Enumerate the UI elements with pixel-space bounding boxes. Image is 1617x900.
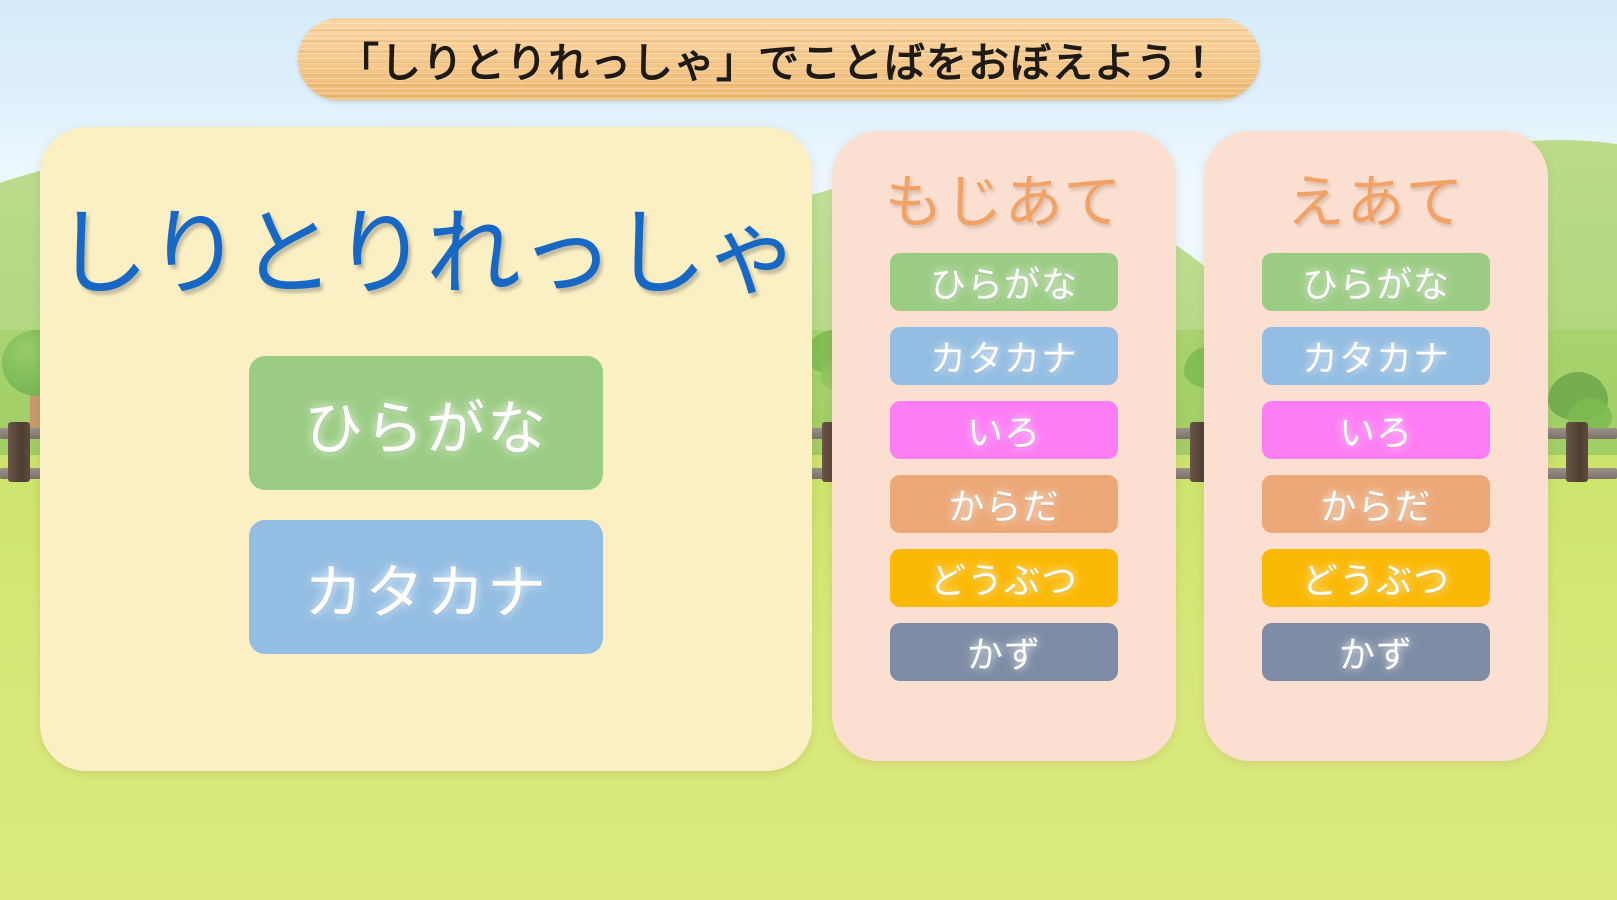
panel-title-moji-ate: もじあて [885,155,1124,239]
e-button-kazu[interactable]: かず [1262,623,1490,681]
moji-button-katakana[interactable]: カタカナ [890,327,1118,385]
panel-e-ate: えあて ひらがな カタカナ いろ からだ どうぶつ かず [1204,131,1548,761]
main-menu-card: しりとりれっしゃ ひらがな カタカナ [40,127,812,771]
moji-button-karada[interactable]: からだ [890,475,1118,533]
title-banner: 「しりとりれっしゃ」でことばをおぼえよう！ [298,18,1260,100]
moji-button-doubutsu[interactable]: どうぶつ [890,549,1118,607]
game-title: しりとりれっしゃ [54,177,798,314]
e-button-doubutsu[interactable]: どうぶつ [1262,549,1490,607]
panel-moji-button-group: ひらがな カタカナ いろ からだ どうぶつ かず [890,253,1118,681]
moji-button-kazu[interactable]: かず [890,623,1118,681]
game-scene: 「しりとりれっしゃ」でことばをおぼえよう！ しりとりれっしゃ ひらがな カタカナ… [0,0,1617,900]
panel-e-button-group: ひらがな カタカナ いろ からだ どうぶつ かず [1262,253,1490,681]
main-mode-button-group: ひらがな カタカナ [249,356,603,654]
e-button-katakana[interactable]: カタカナ [1262,327,1490,385]
main-button-katakana[interactable]: カタカナ [249,520,603,654]
panel-moji-ate: もじあて ひらがな カタカナ いろ からだ どうぶつ かず [832,131,1176,761]
main-button-hiragana[interactable]: ひらがな [249,356,603,490]
moji-button-hiragana[interactable]: ひらがな [890,253,1118,311]
e-button-iro[interactable]: いろ [1262,401,1490,459]
e-button-karada[interactable]: からだ [1262,475,1490,533]
moji-button-iro[interactable]: いろ [890,401,1118,459]
rail-tie [8,422,30,482]
banner-text: 「しりとりれっしゃ」でことばをおぼえよう！ [338,29,1220,89]
rail-tie [1566,422,1588,482]
e-button-hiragana[interactable]: ひらがな [1262,253,1490,311]
panel-title-e-ate: えあて [1287,155,1466,239]
